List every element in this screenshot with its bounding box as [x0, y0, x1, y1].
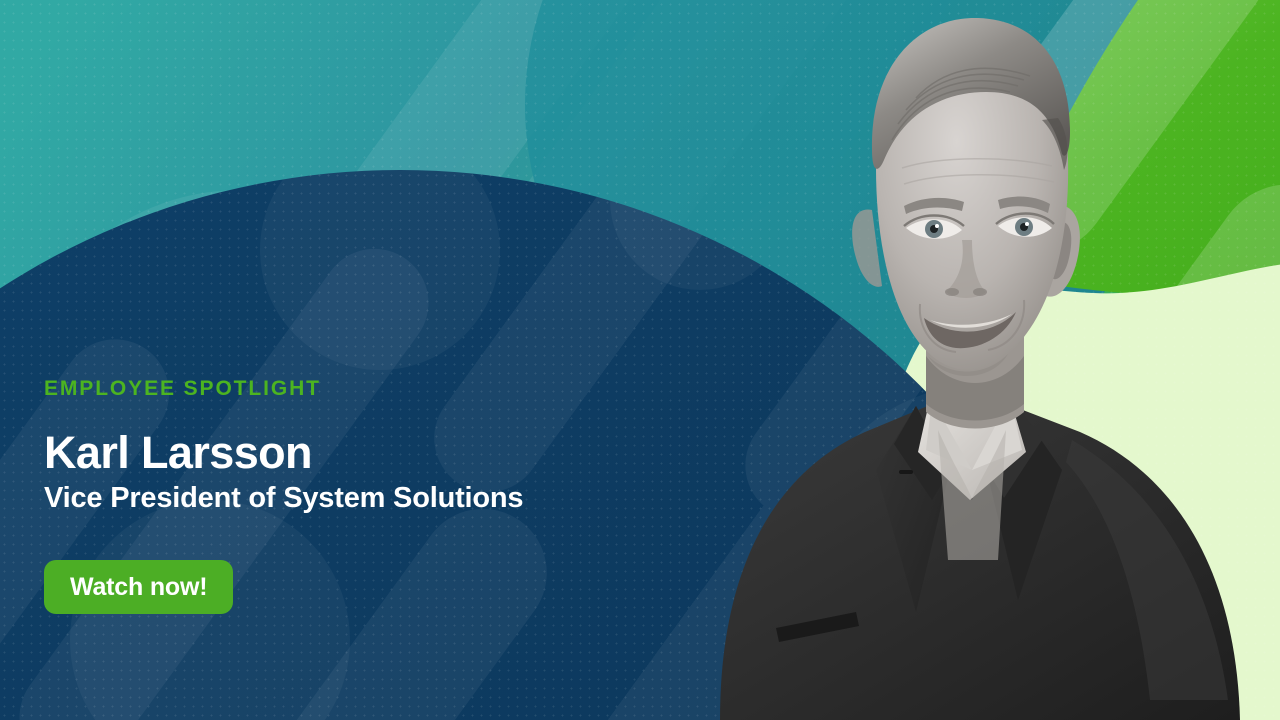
head — [872, 18, 1070, 376]
employee-role: Vice President of System Solutions — [44, 482, 664, 515]
mint-blob — [890, 262, 1280, 720]
ears — [852, 205, 1080, 297]
eyebrow-label: EMPLOYEE SPOTLIGHT — [44, 378, 664, 399]
teal-circle-right — [525, 0, 1165, 425]
suit — [720, 404, 1240, 720]
spotlight-text-block: EMPLOYEE SPOTLIGHT Karl Larsson Vice Pre… — [44, 378, 664, 614]
employee-name: Karl Larsson — [44, 429, 664, 476]
neck — [926, 330, 1024, 429]
portrait-photo — [680, 0, 1260, 720]
shirt-collar — [918, 398, 1026, 560]
teal-soft-circle-2 — [680, 180, 1040, 540]
green-corner-region — [931, 0, 1280, 485]
watch-now-button[interactable]: Watch now! — [44, 560, 233, 614]
eyes — [904, 214, 1054, 239]
employee-spotlight-banner: EMPLOYEE SPOTLIGHT Karl Larsson Vice Pre… — [0, 0, 1280, 720]
